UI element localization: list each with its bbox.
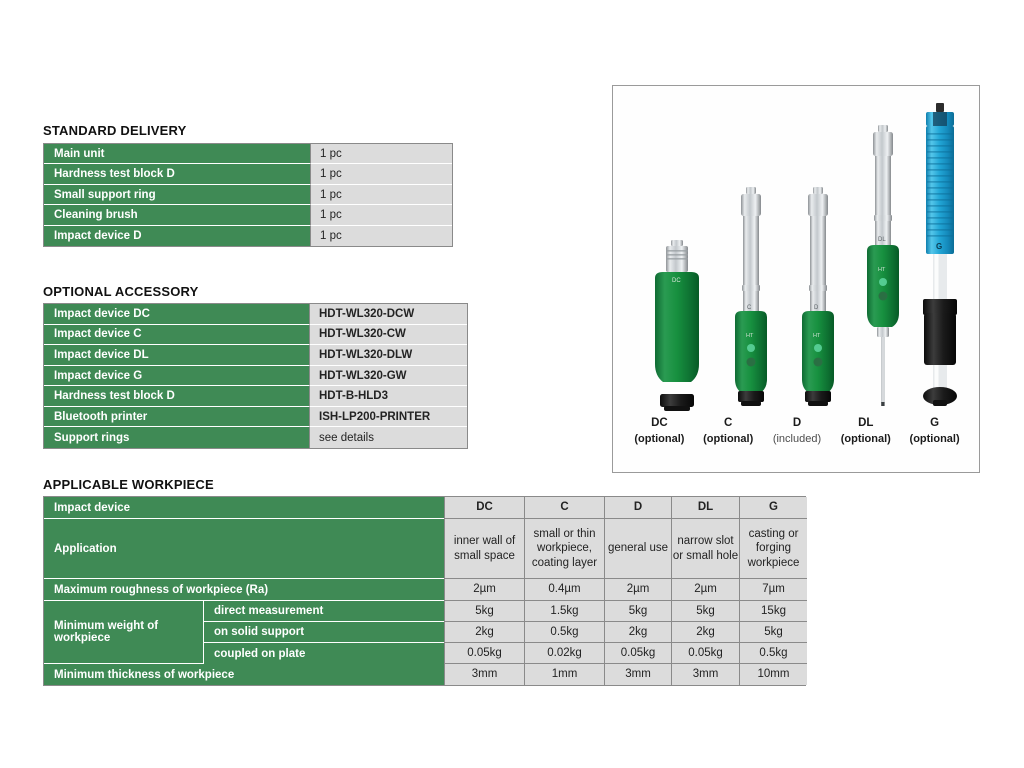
delivery-item-qty: 1 pc [310, 185, 452, 205]
device-illustration-c: C HT [726, 185, 776, 418]
g-device-mark: G [936, 242, 942, 251]
device-illustration-d: D HT [793, 185, 843, 418]
min-weight-direct-c: 1.5kg [524, 601, 604, 622]
device-illustration-dc: DC [641, 238, 713, 418]
delivery-item-qty: 1 pc [310, 205, 452, 225]
min-thickness-c: 1mm [524, 664, 604, 685]
min-weight-solid-d: 2kg [604, 622, 671, 643]
device-label-c: C (optional) [694, 416, 763, 446]
accessory-item-label: Bluetooth printer [44, 407, 309, 428]
accessory-item-code: see details [309, 427, 467, 448]
min-thickness-g: 10mm [739, 664, 807, 685]
max-roughness-c: 0.4µm [524, 579, 604, 601]
application-dl: narrow slot or small hole [671, 519, 739, 579]
device-status-d: (included) [763, 432, 832, 447]
max-roughness-d: 2µm [604, 579, 671, 601]
min-weight-solid-dc: 2kg [444, 622, 524, 643]
min-thickness-dc: 3mm [444, 664, 524, 685]
row-label-coupled-on-plate: coupled on plate [204, 643, 444, 664]
application-dc: inner wall of small space [444, 519, 524, 579]
device-illustration-dl: DL HT [858, 123, 908, 418]
table-row: Hardness test block D 1 pc [44, 164, 452, 184]
applicable-workpiece-table: Impact device DC C D DL G Application in… [43, 496, 806, 686]
column-header-g: G [739, 497, 807, 519]
min-weight-direct-d: 5kg [604, 601, 671, 622]
device-illustration-g: G [913, 103, 967, 418]
max-roughness-dl: 2µm [671, 579, 739, 601]
accessory-item-label: Hardness test block D [44, 386, 309, 407]
applicable-workpiece-heading: APPLICABLE WORKPIECE [43, 477, 214, 492]
application-c: small or thin workpiece, coating layer [524, 519, 604, 579]
accessory-item-code: HDT-WL320-DCW [309, 304, 467, 325]
delivery-item-label: Hardness test block D [44, 164, 310, 184]
table-row: Impact device DL HDT-WL320-DLW [44, 345, 467, 366]
svg-text:HT: HT [746, 333, 754, 339]
device-status-c: (optional) [694, 432, 763, 447]
accessory-item-code: HDT-WL320-CW [309, 325, 467, 346]
min-weight-solid-g: 5kg [739, 622, 807, 643]
svg-text:HT: HT [878, 267, 886, 273]
table-row: Cleaning brush 1 pc [44, 205, 452, 225]
device-name-dl: DL [831, 416, 900, 432]
device-name-g: G [900, 416, 969, 432]
table-row: Impact device D 1 pc [44, 226, 452, 246]
table-row: Bluetooth printer ISH-LP200-PRINTER [44, 407, 467, 428]
dl-device-svg: DL HT [858, 123, 908, 413]
accessory-item-code: HDT-WL320-GW [309, 366, 467, 387]
accessory-item-code: HDT-B-HLD3 [309, 386, 467, 407]
device-name-c: C [694, 416, 763, 432]
device-labels-row: DC (optional) C (optional) D (included) … [625, 416, 969, 446]
column-header-dc: DC [444, 497, 524, 519]
min-thickness-d: 3mm [604, 664, 671, 685]
delivery-item-label: Main unit [44, 144, 310, 164]
device-label-d: D (included) [763, 416, 832, 446]
device-label-dl: DL (optional) [831, 416, 900, 446]
device-illustrations: DC C HT [613, 86, 979, 426]
delivery-item-qty: 1 pc [310, 164, 452, 184]
min-weight-solid-dl: 2kg [671, 622, 739, 643]
min-weight-coupled-dc: 0.05kg [444, 643, 524, 664]
row-label-impact-device: Impact device [44, 497, 444, 519]
row-label-min-thickness: Minimum thickness of workpiece [44, 664, 444, 685]
device-name-d: D [763, 416, 832, 432]
max-roughness-g: 7µm [739, 579, 807, 601]
min-weight-solid-c: 0.5kg [524, 622, 604, 643]
accessory-item-label: Impact device G [44, 366, 309, 387]
min-weight-direct-dc: 5kg [444, 601, 524, 622]
device-label-g: G (optional) [900, 416, 969, 446]
optional-accessory-heading: OPTIONAL ACCESSORY [43, 284, 199, 299]
delivery-item-label: Impact device D [44, 226, 310, 246]
accessory-item-label: Support rings [44, 427, 309, 448]
delivery-item-qty: 1 pc [310, 226, 452, 246]
row-label-min-weight: Minimum weight of workpiece [44, 601, 204, 664]
delivery-item-label: Small support ring [44, 185, 310, 205]
accessory-item-code: ISH-LP200-PRINTER [309, 407, 467, 428]
table-row: Impact device G HDT-WL320-GW [44, 366, 467, 387]
device-label-dc: DC (optional) [625, 416, 694, 446]
min-thickness-dl: 3mm [671, 664, 739, 685]
dc-device-mark: DC [672, 278, 681, 284]
delivery-item-qty: 1 pc [310, 144, 452, 164]
table-row: Main unit 1 pc [44, 144, 452, 164]
column-header-d: D [604, 497, 671, 519]
svg-text:HT: HT [813, 333, 821, 339]
device-name-dc: DC [625, 416, 694, 432]
min-weight-coupled-d: 0.05kg [604, 643, 671, 664]
dc-device-svg: DC [641, 238, 713, 413]
row-label-max-roughness: Maximum roughness of workpiece (Ra) [44, 579, 444, 601]
device-status-g: (optional) [900, 432, 969, 447]
max-roughness-dc: 2µm [444, 579, 524, 601]
application-g: casting or forging workpiece [739, 519, 807, 579]
min-weight-direct-g: 15kg [739, 601, 807, 622]
device-status-dc: (optional) [625, 432, 694, 447]
dl-device-mark: DL [878, 237, 886, 243]
table-row: Small support ring 1 pc [44, 185, 452, 205]
row-label-on-solid-support: on solid support [204, 622, 444, 643]
min-weight-coupled-g: 0.5kg [739, 643, 807, 664]
g-device-svg: G [913, 103, 967, 413]
table-row: Support rings see details [44, 427, 467, 448]
d-device-svg: D HT [793, 185, 843, 413]
delivery-item-label: Cleaning brush [44, 205, 310, 225]
accessory-item-label: Impact device DC [44, 304, 309, 325]
c-device-mark: C [747, 305, 752, 311]
impact-device-photo-panel: DC C HT [612, 85, 980, 473]
accessory-item-label: Impact device DL [44, 345, 309, 366]
table-row: Hardness test block D HDT-B-HLD3 [44, 386, 467, 407]
table-row: Impact device C HDT-WL320-CW [44, 325, 467, 346]
row-label-application: Application [44, 519, 444, 579]
c-device-svg: C HT [726, 185, 776, 413]
standard-delivery-heading: STANDARD DELIVERY [43, 123, 187, 138]
min-weight-direct-dl: 5kg [671, 601, 739, 622]
min-weight-coupled-dl: 0.05kg [671, 643, 739, 664]
application-d: general use [604, 519, 671, 579]
accessory-item-code: HDT-WL320-DLW [309, 345, 467, 366]
datasheet-page: STANDARD DELIVERY Main unit 1 pc Hardnes… [0, 0, 1024, 768]
d-device-mark: D [814, 305, 819, 311]
table-row: Impact device DC HDT-WL320-DCW [44, 304, 467, 325]
optional-accessory-table: Impact device DC HDT-WL320-DCW Impact de… [43, 303, 468, 449]
min-weight-coupled-c: 0.02kg [524, 643, 604, 664]
accessory-item-label: Impact device C [44, 325, 309, 346]
device-status-dl: (optional) [831, 432, 900, 447]
column-header-dl: DL [671, 497, 739, 519]
column-header-c: C [524, 497, 604, 519]
row-label-direct-measurement: direct measurement [204, 601, 444, 622]
standard-delivery-table: Main unit 1 pc Hardness test block D 1 p… [43, 143, 453, 247]
